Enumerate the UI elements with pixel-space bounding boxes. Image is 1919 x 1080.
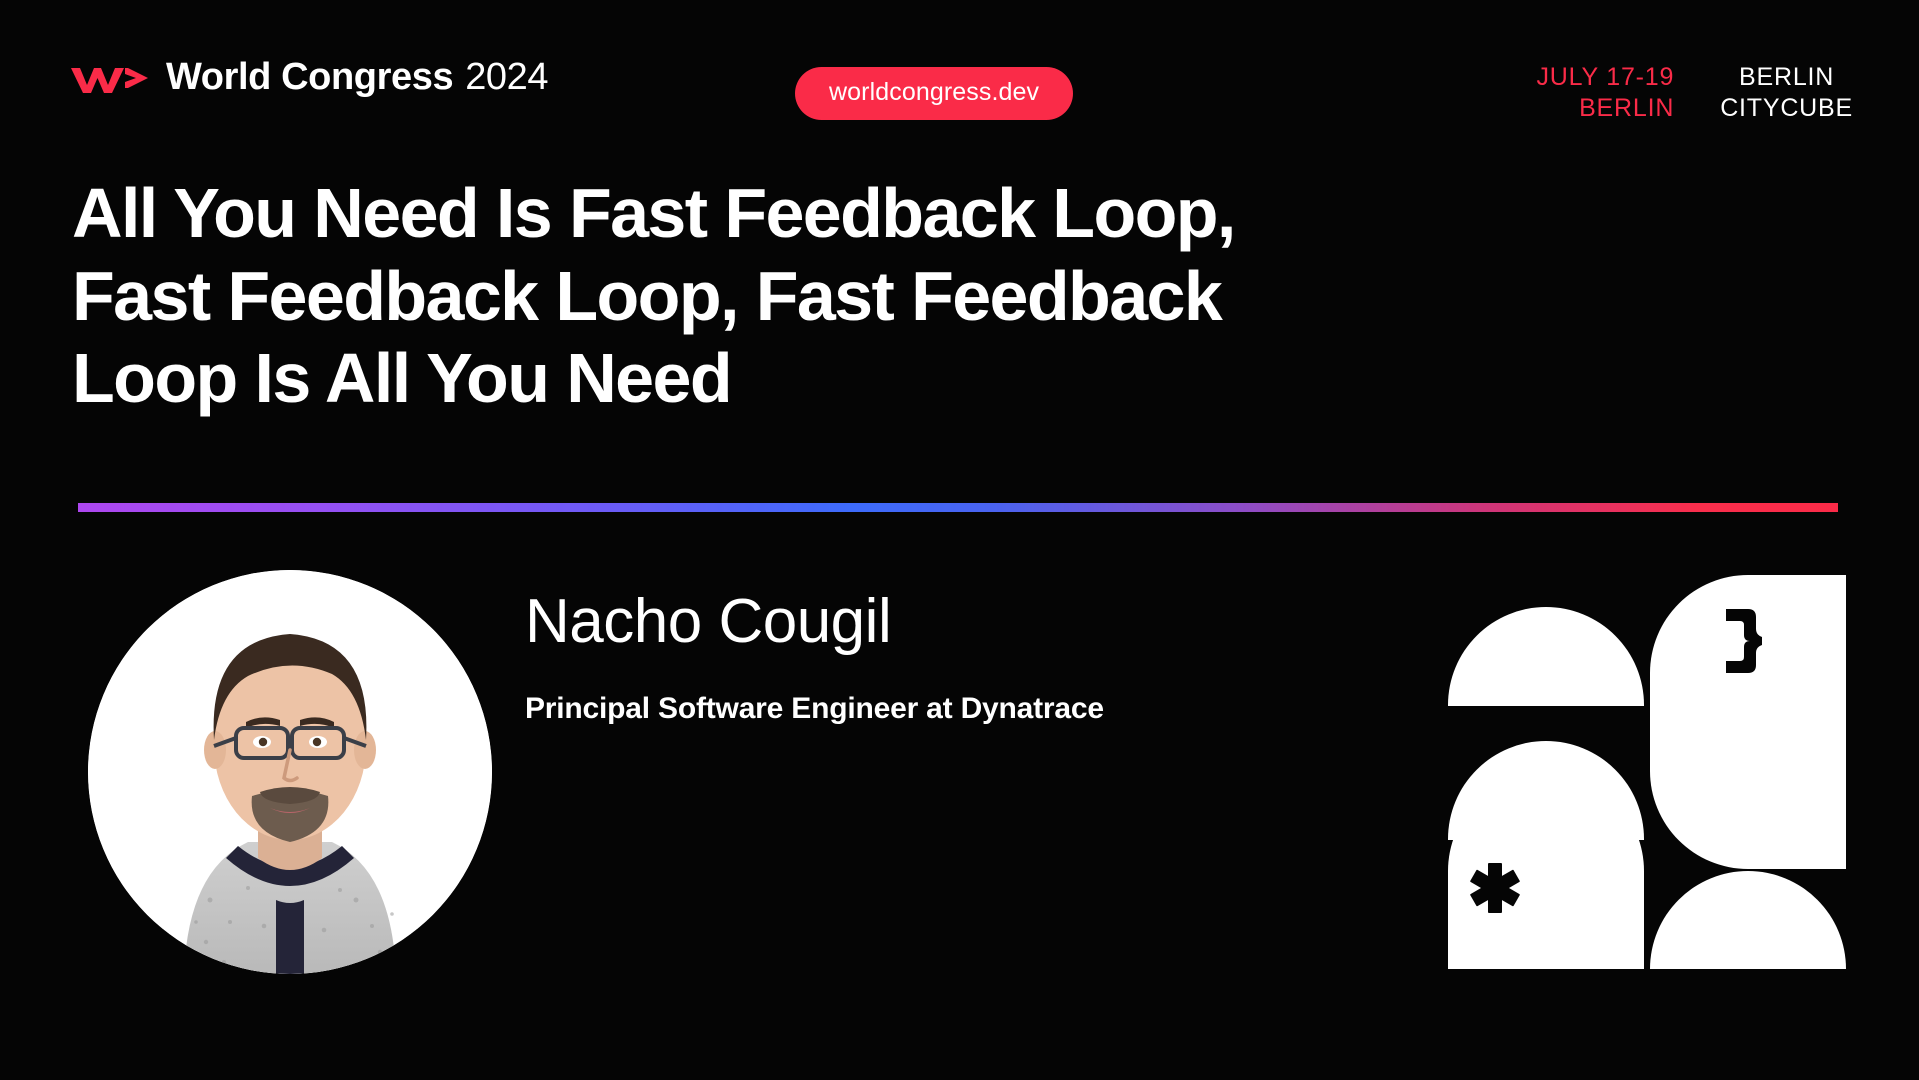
talk-title-line-1: All You Need Is Fast Feedback Loop, xyxy=(72,172,1712,255)
talk-slide: World Congress2024 worldcongress.dev JUL… xyxy=(0,0,1919,1080)
event-date-line1: JULY 17-19 xyxy=(1536,62,1674,93)
abstract-geometric-mark-icon xyxy=(1448,575,1846,969)
event-venue: BERLIN CITYCUBE xyxy=(1720,62,1853,123)
event-venue-line2: CITYCUBE xyxy=(1720,93,1853,124)
gradient-divider xyxy=(78,503,1838,512)
brand-name: World Congress xyxy=(166,56,453,98)
talk-title-line-3: Loop Is All You Need xyxy=(72,337,1712,420)
event-venue-line1: BERLIN xyxy=(1720,62,1853,93)
world-congress-w-arrow-logo-icon xyxy=(70,61,148,95)
event-dates: JULY 17-19 BERLIN xyxy=(1536,62,1674,123)
event-date-line2: BERLIN xyxy=(1536,93,1674,124)
website-url-pill[interactable]: worldcongress.dev xyxy=(795,67,1073,120)
talk-title-line-2: Fast Feedback Loop, Fast Feedback xyxy=(72,255,1712,338)
talk-title: All You Need Is Fast Feedback Loop, Fast… xyxy=(72,172,1712,420)
speaker-info: Nacho Cougil Principal Software Engineer… xyxy=(525,588,1385,726)
brand-text: World Congress2024 xyxy=(166,56,548,99)
event-meta: JULY 17-19 BERLIN BERLIN CITYCUBE xyxy=(1536,62,1853,123)
brand-year: 2024 xyxy=(465,56,548,98)
speaker-headshot-photo-icon xyxy=(88,570,492,974)
brand-lockup: World Congress2024 xyxy=(70,56,548,99)
speaker-role: Principal Software Engineer at Dynatrace xyxy=(525,692,1385,726)
speaker-name: Nacho Cougil xyxy=(525,588,1385,656)
slide-header: World Congress2024 worldcongress.dev JUL… xyxy=(0,0,1919,150)
